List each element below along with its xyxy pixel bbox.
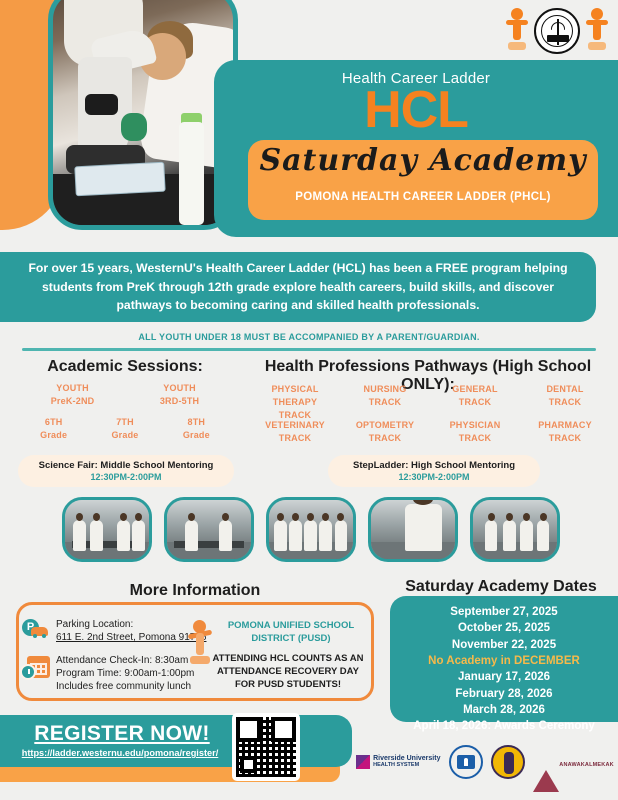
photo-strip — [62, 497, 562, 562]
date-item: October 25, 2025 — [390, 620, 618, 636]
calendar-clock-icon — [20, 654, 50, 682]
pathway-4-line2: TRACK — [250, 432, 340, 445]
westernu-logo-group — [506, 8, 608, 54]
saturday-academy-dates-box: September 27, 2025 October 25, 2025 Nove… — [390, 596, 618, 722]
register-now-title[interactable]: REGISTER NOW! — [14, 722, 230, 746]
pathway-3-line1: DENTAL — [520, 383, 610, 396]
youth-0-line1: YOUTH — [51, 382, 95, 395]
intro-banner-text: For over 15 years, WesternU's Health Car… — [0, 259, 596, 316]
date-item: November 22, 2025 — [390, 637, 618, 653]
pathway-0-line1: PHYSICAL THERAPY — [250, 383, 340, 409]
science-fair-time: 12:30PM-2:00PM — [90, 472, 161, 482]
pathway-nursing: NURSING TRACK — [340, 383, 430, 422]
pathway-7-line2: TRACK — [520, 432, 610, 445]
hero-acronym: HCL — [214, 84, 618, 136]
date-item: February 28, 2026 — [390, 686, 618, 702]
grade-track-0: 6TH Grade — [40, 416, 67, 442]
date-item-no-academy: No Academy in DECEMBER — [390, 653, 618, 669]
parking-icon: P — [22, 618, 48, 644]
youth-track-1: YOUTH 3RD-5TH — [160, 382, 199, 408]
youth-0-line2: PreK-2ND — [51, 395, 95, 408]
pathway-pharmacy: PHARMACY TRACK — [520, 419, 610, 445]
lunch-note: Includes free community lunch — [56, 680, 194, 693]
grade-1-line2: Grade — [111, 429, 138, 442]
register-url-link[interactable]: https://ladder.westernu.edu/pomona/regis… — [6, 748, 234, 758]
pathway-row-2: VETERINARY TRACK OPTOMETRY TRACK PHYSICI… — [250, 419, 610, 445]
westernu-seal-icon — [534, 8, 580, 54]
section-divider — [22, 348, 596, 351]
anawakalmekak-logo: ANAWAKALMEKAK — [533, 753, 614, 771]
pathway-row-1: PHYSICAL THERAPY TRACK NURSING TRACK GEN… — [250, 383, 610, 422]
sponsor-logo-row: Riverside University HEALTH SYSTEM ANAWA… — [352, 745, 618, 779]
pusd-title: POMONA UNIFIED SCHOOL DISTRICT (PUSD) — [214, 620, 368, 646]
youth-track-row: YOUTH PreK-2ND YOUTH 3RD-5TH — [18, 382, 232, 408]
pathway-7-line1: PHARMACY — [520, 419, 610, 432]
pathway-general: GENERAL TRACK — [430, 383, 520, 422]
stepladder-pill: StepLadder: High School Mentoring 12:30P… — [328, 455, 540, 487]
parking-info: Parking Location: 611 E. 2nd Street, Pom… — [56, 618, 206, 644]
pathway-veterinary: VETERINARY TRACK — [250, 419, 340, 445]
pathway-2-line1: GENERAL — [430, 383, 520, 396]
intro-banner: For over 15 years, WesternU's Health Car… — [0, 252, 596, 322]
pathway-dental: DENTAL TRACK — [520, 383, 610, 422]
saturday-academy-dates-heading: Saturday Academy Dates — [384, 578, 618, 596]
parking-address[interactable]: 611 E. 2nd Street, Pomona 91766 — [56, 631, 206, 644]
photo-thumb-0 — [62, 497, 152, 562]
figure-left-icon — [506, 8, 528, 54]
grade-track-1: 7TH Grade — [111, 416, 138, 442]
science-fair-pill: Science Fair: Middle School Mentoring 12… — [18, 455, 234, 487]
pathway-physical-therapy: PHYSICAL THERAPY TRACK — [250, 383, 340, 422]
pusd-seal-logo — [449, 745, 483, 779]
hero-subtitle: POMONA HEALTH CAREER LADDER (PHCL) — [248, 191, 598, 203]
grade-0-line1: 6TH — [40, 416, 67, 429]
pathway-5-line2: TRACK — [340, 432, 430, 445]
checkin-time: Attendance Check-In: 8:30am — [56, 654, 194, 667]
pathway-3-line2: TRACK — [520, 396, 610, 409]
schedule-info: Attendance Check-In: 8:30am Program Time… — [56, 654, 194, 694]
program-time: Program Time: 9:00am-1:00pm — [56, 667, 194, 680]
pathway-optometry: OPTOMETRY TRACK — [340, 419, 430, 445]
date-item: April 18, 2026: Awards Ceremony — [390, 718, 618, 734]
pathway-6-line2: TRACK — [430, 432, 520, 445]
pathway-1-line1: NURSING — [340, 383, 430, 396]
science-fair-title: Science Fair: Middle School Mentoring — [39, 460, 214, 471]
stepladder-title: StepLadder: High School Mentoring — [353, 460, 515, 471]
grade-track-2: 8TH Grade — [183, 416, 210, 442]
date-item: March 28, 2026 — [390, 702, 618, 718]
stepladder-time: 12:30PM-2:00PM — [398, 472, 469, 482]
riverside-university-health-system-logo: Riverside University HEALTH SYSTEM — [356, 755, 440, 769]
grade-0-line2: Grade — [40, 429, 67, 442]
guardian-notice: ALL YOUTH UNDER 18 MUST BE ACCOMPANIED B… — [0, 332, 618, 342]
flyer-page: Health Career Ladder HCL Saturday Academ… — [0, 0, 618, 800]
parking-label: Parking Location: — [56, 618, 206, 631]
pathway-6-line1: PHYSICIAN — [430, 419, 520, 432]
photo-thumb-1 — [164, 497, 254, 562]
hero-photo-microscope — [48, 0, 238, 230]
hero-script-title: Saturday Academy — [248, 143, 598, 178]
youth-1-line2: 3RD-5TH — [160, 395, 199, 408]
pathway-1-line2: TRACK — [340, 396, 430, 409]
grade-1-line1: 7TH — [111, 416, 138, 429]
grade-2-line2: Grade — [183, 429, 210, 442]
grade-track-row: 6TH Grade 7TH Grade 8TH Grade — [18, 416, 232, 442]
photo-thumb-3 — [368, 497, 458, 562]
academic-sessions-heading: Academic Sessions: — [10, 358, 240, 376]
date-item: January 17, 2026 — [390, 669, 618, 685]
figure-right-icon — [586, 8, 608, 54]
pathway-physician: PHYSICIAN TRACK — [430, 419, 520, 445]
pathway-5-line1: OPTOMETRY — [340, 419, 430, 432]
youth-track-0: YOUTH PreK-2ND — [51, 382, 95, 408]
header-section: Health Career Ladder HCL Saturday Academ… — [0, 0, 618, 237]
tribal-partner-logo — [491, 745, 525, 779]
qr-code[interactable] — [232, 713, 300, 781]
more-information-heading: More Information — [10, 582, 380, 600]
grade-2-line1: 8TH — [183, 416, 210, 429]
riverside-line3: HEALTH SYSTEM — [373, 763, 440, 769]
pathway-2-line2: TRACK — [430, 396, 520, 409]
pusd-note: ATTENDING HCL COUNTS AS AN ATTENDANCE RE… — [206, 652, 370, 691]
pathway-4-line1: VETERINARY — [250, 419, 340, 432]
photo-thumb-2 — [266, 497, 356, 562]
date-item: September 27, 2025 — [390, 604, 618, 620]
youth-1-line1: YOUTH — [160, 382, 199, 395]
anawakalmekak-label: ANAWAKALMEKAK — [559, 762, 614, 768]
photo-thumb-4 — [470, 497, 560, 562]
